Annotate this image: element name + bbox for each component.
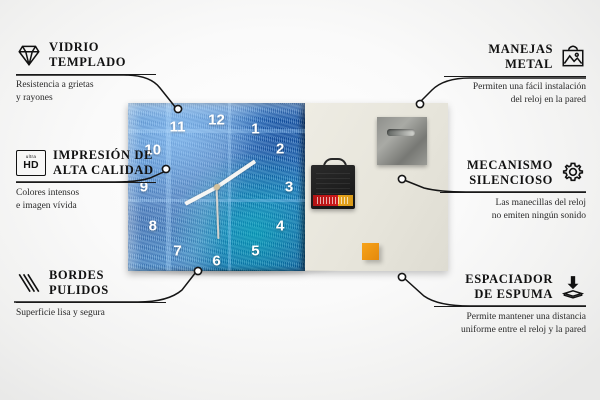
feature-title-line1: IMPRESIÓN DE xyxy=(53,148,154,163)
feature-impresion-alta-calidad[interactable]: ultra HD IMPRESIÓN DE ALTA CALIDAD Color… xyxy=(16,148,156,213)
feature-title: BORDES PULIDOS xyxy=(49,268,109,298)
clock-numeral-4: 4 xyxy=(276,217,284,234)
clock-mechanism xyxy=(311,165,355,209)
mounting-panel xyxy=(305,103,448,271)
feature-title-line2: PULIDOS xyxy=(49,283,109,298)
foam-spacer xyxy=(362,243,379,260)
feature-mecanismo-silencioso[interactable]: MECANISMO SILENCIOSO Las manecillas del … xyxy=(440,158,586,223)
feature-title-line1: MECANISMO xyxy=(467,158,553,173)
feature-desc-line1: Colores intensos xyxy=(16,187,156,200)
feature-divider xyxy=(444,76,586,77)
mechanism-vents xyxy=(316,173,350,195)
feature-title: MANEJAS METAL xyxy=(488,42,553,72)
feature-title-line1: VIDRIO xyxy=(49,40,126,55)
feature-description: Las manecillas del reloj no emiten ningú… xyxy=(440,197,586,223)
clock-numeral-3: 3 xyxy=(285,179,293,196)
feature-desc-line1: Permiten una fácil instalación xyxy=(444,81,586,94)
product-image: 12 1 2 3 4 5 6 7 8 9 10 11 xyxy=(128,103,338,271)
hour-hand xyxy=(184,185,218,205)
feature-bordes-pulidos[interactable]: BORDES PULIDOS Superficie lisa y segura xyxy=(16,268,166,320)
clock-numeral-12: 12 xyxy=(208,112,225,129)
feature-desc-line2: del reloj en la pared xyxy=(444,94,586,107)
feature-title-line2: METAL xyxy=(488,57,553,72)
wall-frame-icon xyxy=(560,44,586,70)
feature-espaciador-espuma[interactable]: ESPACIADOR DE ESPUMA Permite mantener un… xyxy=(434,272,586,337)
clock-numeral-8: 8 xyxy=(149,217,157,234)
feature-title-line2: SILENCIOSO xyxy=(467,173,553,188)
feature-title: MECANISMO SILENCIOSO xyxy=(467,158,553,188)
feature-desc-line2: y rayones xyxy=(16,92,156,105)
feature-title-line1: ESPACIADOR xyxy=(465,272,553,287)
feature-desc-line1: Permite mantener una distancia xyxy=(434,311,586,324)
spacer-arrow-icon xyxy=(560,274,586,300)
art-grid-line xyxy=(228,103,231,271)
feature-title: IMPRESIÓN DE ALTA CALIDAD xyxy=(53,148,154,178)
clock-numeral-7: 7 xyxy=(173,242,181,259)
feature-title-line1: MANEJAS xyxy=(488,42,553,57)
feature-description: Resistencia a grietas y rayones xyxy=(16,79,156,105)
feature-desc-line2: e imagen vívida xyxy=(16,200,156,213)
gear-icon xyxy=(560,160,586,186)
polished-edges-icon xyxy=(16,270,42,296)
feature-description: Colores intensos e imagen vívida xyxy=(16,187,156,213)
clock-numeral-5: 5 xyxy=(251,242,259,259)
feature-title-line1: BORDES xyxy=(49,268,109,283)
mechanism-label xyxy=(313,195,353,206)
clock-numeral-2: 2 xyxy=(276,141,284,158)
feature-desc-line2: uniforme entre el reloj y la pared xyxy=(434,324,586,337)
second-hand xyxy=(216,187,219,239)
feature-manejas-metal[interactable]: MANEJAS METAL Permiten una fácil instala… xyxy=(444,42,586,107)
mechanism-hanging-loop xyxy=(323,158,347,170)
feature-desc-line1: Las manecillas del reloj xyxy=(440,197,586,210)
diamond-icon xyxy=(16,42,42,68)
feature-divider xyxy=(16,182,156,183)
feature-description: Permiten una fácil instalación del reloj… xyxy=(444,81,586,107)
feature-divider xyxy=(16,302,166,303)
hanger-keyhole-slot xyxy=(387,129,415,136)
feature-description: Superficie lisa y segura xyxy=(16,307,166,320)
feature-title-line2: TEMPLADO xyxy=(49,55,126,70)
art-grid-line xyxy=(166,103,171,271)
feature-title: ESPACIADOR DE ESPUMA xyxy=(465,272,553,302)
feature-title-line2: ALTA CALIDAD xyxy=(53,163,154,178)
feature-desc-line1: Superficie lisa y segura xyxy=(16,307,166,320)
feature-description: Permite mantener una distancia uniforme … xyxy=(434,311,586,337)
feature-divider xyxy=(434,306,586,307)
connector-dot-espaciador xyxy=(398,273,405,280)
ultra-hd-icon-large-text: HD xyxy=(23,160,39,171)
feature-desc-line1: Resistencia a grietas xyxy=(16,79,156,92)
feature-divider xyxy=(16,74,156,75)
clock-hub xyxy=(214,184,220,190)
clock-numeral-1: 1 xyxy=(251,121,259,138)
feature-title: VIDRIO TEMPLADO xyxy=(49,40,126,70)
feature-divider xyxy=(440,192,586,193)
feature-desc-line2: no emiten ningún sonido xyxy=(440,210,586,223)
feature-title-line2: DE ESPUMA xyxy=(465,287,553,302)
feature-vidrio-templado[interactable]: VIDRIO TEMPLADO Resistencia a grietas y … xyxy=(16,40,156,105)
ultra-hd-icon: ultra HD xyxy=(16,150,46,176)
minute-hand xyxy=(215,160,255,189)
clock-numeral-11: 11 xyxy=(170,118,186,135)
infographic-canvas: 12 1 2 3 4 5 6 7 8 9 10 11 xyxy=(0,0,600,400)
art-grid-line xyxy=(128,129,305,133)
metal-hanger-plate xyxy=(377,117,427,165)
clock-numeral-6: 6 xyxy=(212,252,220,269)
